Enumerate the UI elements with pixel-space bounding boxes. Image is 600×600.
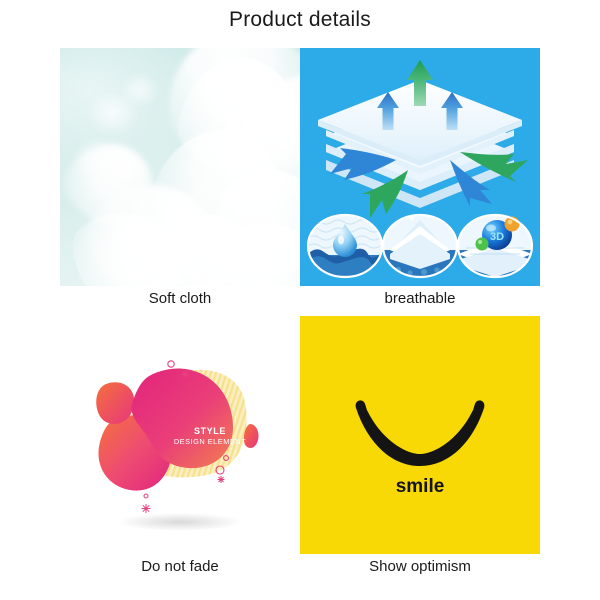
panel-do-not-fade[interactable]: STYLE DESIGN ELEMENT Do not fade xyxy=(60,314,300,582)
panel-do-not-fade-image[interactable]: STYLE DESIGN ELEMENT xyxy=(60,316,300,554)
panel-breathable-caption: breathable xyxy=(300,290,540,307)
product-details-page: Product details Soft cloth xyxy=(0,0,600,600)
smile-curve-icon xyxy=(356,400,485,466)
smile-graphic: smile xyxy=(300,316,540,554)
product-detail-grid: Soft cloth xyxy=(60,46,540,586)
panel-breathable-image[interactable]: 3D xyxy=(300,48,540,286)
breathable-diagram: 3D xyxy=(300,48,540,286)
feather-photo xyxy=(60,48,300,286)
blob-overlay-title: STYLE xyxy=(194,426,226,436)
panel-soft-cloth[interactable]: Soft cloth xyxy=(60,46,300,314)
panel-show-optimism-caption: Show optimism xyxy=(300,558,540,575)
page-title: Product details xyxy=(0,8,600,32)
inset-three-d-sphere: 3D xyxy=(458,215,532,280)
three-d-sphere-label: 3D xyxy=(490,231,504,243)
panel-breathable[interactable]: 3D breathable xyxy=(300,46,540,314)
panel-soft-cloth-caption: Soft cloth xyxy=(60,290,300,307)
fluid-blob-graphic: STYLE DESIGN ELEMENT xyxy=(60,316,300,554)
blob-shadow xyxy=(118,513,242,531)
smile-label: smile xyxy=(396,476,445,497)
blob-overlay-subtitle: DESIGN ELEMENT xyxy=(174,437,246,446)
inset-layer-cone xyxy=(383,211,457,281)
inset-water-drop xyxy=(308,215,382,280)
panel-do-not-fade-caption: Do not fade xyxy=(60,558,300,575)
panel-show-optimism-image[interactable]: smile xyxy=(300,316,540,554)
panel-soft-cloth-image[interactable] xyxy=(60,48,300,286)
panel-show-optimism[interactable]: smile Show optimism xyxy=(300,314,540,582)
